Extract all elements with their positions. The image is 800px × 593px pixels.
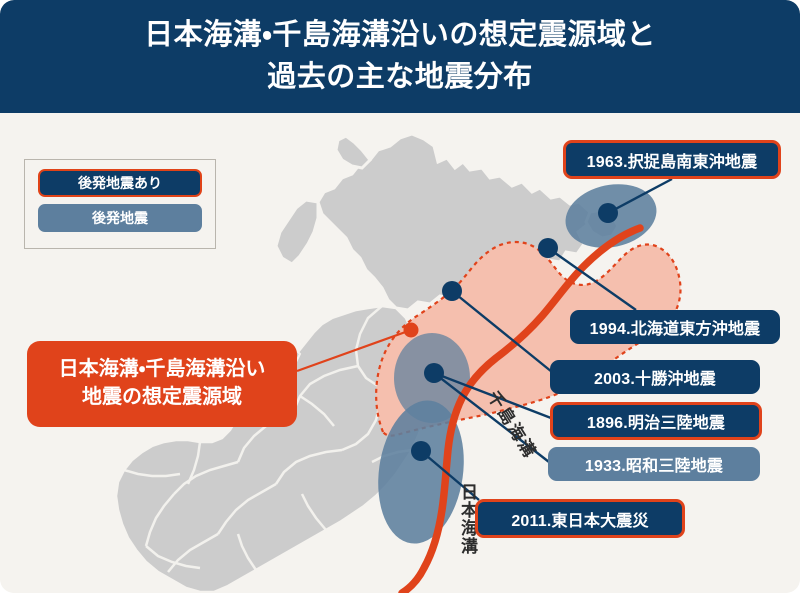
marker-1994 [538,238,558,258]
event-label-text: 2003.十勝沖地震 [594,365,716,389]
legend-item-with-aftershock: 後発地震あり [38,169,202,197]
marker-1896 [424,363,444,383]
event-label-2003[interactable]: 2003.十勝沖地震 [550,360,760,394]
infographic-root: 日本海溝・千島海溝沿いの想定震源域と 過去の主な地震分布 [0,0,800,593]
header-banner: 日本海溝・千島海溝沿いの想定震源域と 過去の主な地震分布 [0,0,800,113]
legend-box: 後発地震あり 後発地震 [24,159,216,249]
event-label-text: 1933.昭和三陸地震 [585,452,723,476]
event-label-1896[interactable]: 1896.明治三陸地震 [550,402,762,440]
event-label-2011[interactable]: 2011.東日本大震災 [475,499,685,538]
event-label-text: 2011.東日本大震災 [511,507,648,531]
hypocenter-zone-callout: 日本海溝・千島海溝沿い 地震の想定震源域 [27,341,297,427]
event-label-1933[interactable]: 1933.昭和三陸地震 [548,447,760,481]
marker-1963 [598,203,618,223]
legend-item-label: 後発地震あり [78,173,162,193]
legend-item-aftershock: 後発地震 [38,204,202,232]
page-title: 日本海溝・千島海溝沿いの想定震源域と 過去の主な地震分布 [144,15,656,97]
event-label-text: 1994.北海道東方沖地震 [590,315,761,339]
event-label-text: 1963.択捉島南東沖地震 [587,148,758,172]
legend-item-label: 後発地震 [92,208,148,228]
event-label-1994[interactable]: 1994.北海道東方沖地震 [570,310,780,344]
hypocenter-zone-callout-label: 日本海溝・千島海溝沿い 地震の想定震源域 [59,356,266,411]
event-label-text: 1896.明治三陸地震 [587,409,725,433]
marker-2003 [442,281,462,301]
marker-2011 [411,441,431,461]
event-label-1963[interactable]: 1963.択捉島南東沖地震 [563,140,781,179]
